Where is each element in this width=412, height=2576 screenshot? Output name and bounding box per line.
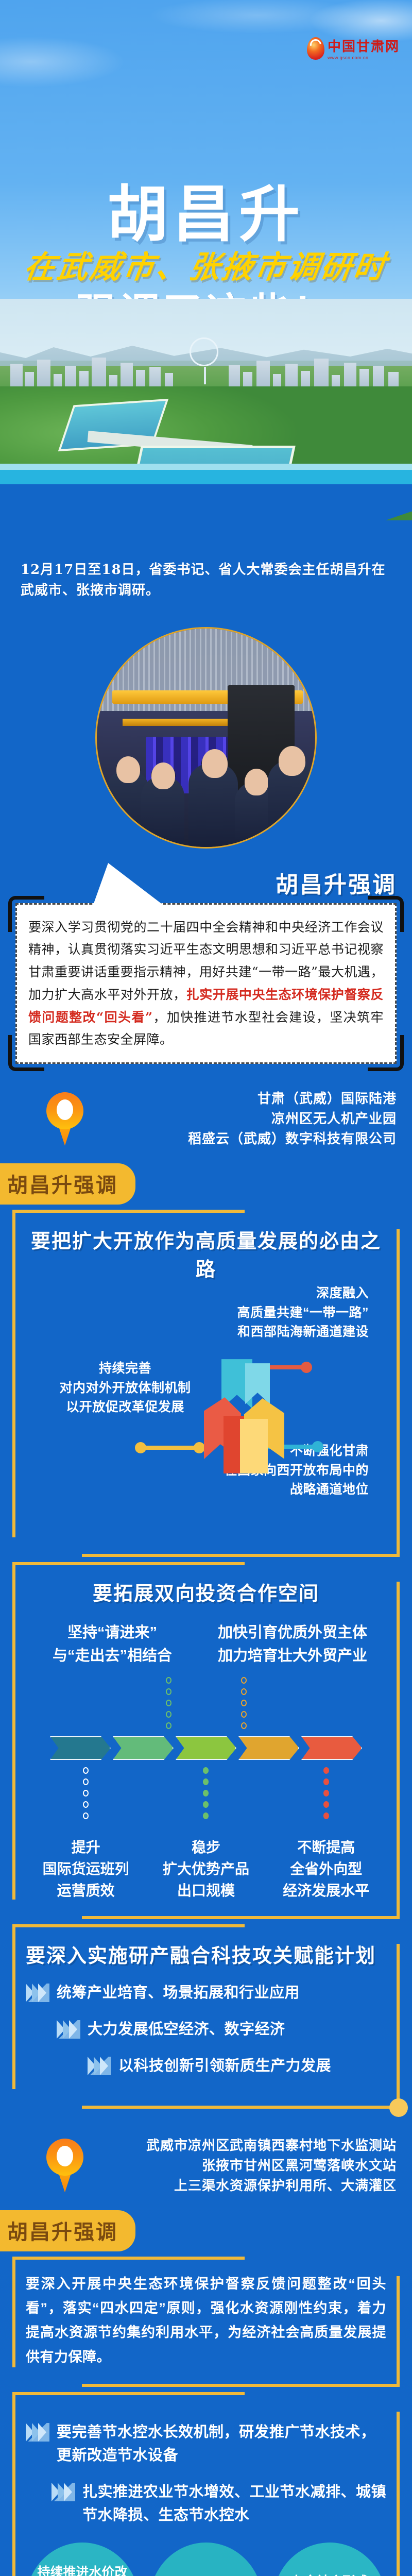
triple-item: 提升 国际货运班列 运营质效 (26, 1837, 145, 1902)
location-name: 武威市凉州区武南镇西寨村地下水监测站 (97, 2136, 397, 2156)
connector-gold (139, 1446, 200, 1450)
section-3-location: 武威市凉州区武南镇西寨村地下水监测站 张掖市甘州区黑河莺落峡水文站 上三渠水资源… (0, 2123, 412, 2201)
hero-banner: 中国甘肃网 www.gscn.com.cn 胡昌升 在武威市、张掖市调研时 强调… (0, 0, 412, 520)
bullet-row: 要完善节水控水长效机制，研发推广节水技术，更新改造节水设备 (26, 2421, 386, 2467)
hub-caption-top: 深度融入 高质量共建“一带一路” 和西部陆海新通道建设 (152, 1284, 369, 1342)
bullet-row: 扎实推进农业节水增效、工业节水减排、城镇节水降损、生态节水控水 (51, 2481, 386, 2527)
section-2-block-3: 要深入实施研产融合科技攻关赋能计划 统筹产业培育、场景拓展和行业应用 大力发展低… (12, 1924, 400, 2109)
dot-column-green2 (203, 1767, 209, 1819)
circle-item: 广泛普及 节水理念和知识 (149, 2543, 263, 2576)
chevron-icon (26, 2423, 49, 2442)
bullet-row: 统筹产业培育、场景拓展和行业应用 (26, 1981, 386, 2005)
bullet-text: 扎实推进农业节水增效、工业节水减排、城镇节水降损、生态节水控水 (82, 2481, 386, 2527)
block-heading: 要拓展双向投资合作空间 (26, 1578, 386, 1606)
bullet-row: 大力发展低空经济、数字经济 (57, 2018, 386, 2041)
arrow-step (238, 1736, 299, 1760)
dot-column-green (166, 1677, 171, 1729)
dot-column-red (323, 1767, 329, 1819)
block-heading: 要把扩大开放作为高质量发展的必由之路 (26, 1225, 386, 1282)
network-hub-icon (193, 1359, 290, 1472)
circle-group: 持续推进水价改革 提高中水回收 利用率 广泛普及 节水理念和知识 在全社会形成 … (26, 2543, 386, 2576)
lede-paragraph: 12月17日至18日，省委书记、省人大常委会主任胡昌升在武威市、张掖市调研。 (0, 556, 412, 617)
triple-item: 不断提高 全省外向型 经济发展水平 (267, 1837, 386, 1902)
section-3-block-2: 要完善节水控水长效机制，研发推广节水技术，更新改造节水设备 扎实推进农业节水增效… (12, 2392, 400, 2576)
leader-inspection-photo (95, 627, 317, 849)
bullet-text: 统筹产业培育、场景拓展和行业应用 (57, 1981, 300, 2005)
bullet-text: 要完善节水控水长效机制，研发推广节水技术，更新改造节水设备 (57, 2421, 386, 2467)
brand-name: 中国甘肃网 (328, 36, 400, 55)
flame-icon (307, 37, 324, 60)
circle-item: 持续推进水价改革 提高中水回收 利用率 (26, 2543, 139, 2576)
location-name: 稻盛云（武威）数字科技有限公司 (97, 1129, 397, 1149)
ferris-wheel-icon (190, 337, 218, 366)
brand-url: www.gscn.com.cn (328, 55, 369, 60)
location-name: 上三渠水资源保护利用所、大满灌区 (97, 2176, 397, 2196)
section-2-block-1: 要把扩大开放作为高质量发展的必由之路 深度融入 高质量共建“一带一路” 和西部陆… (12, 1210, 400, 1557)
section-3-label: 胡昌升强调 (0, 2210, 135, 2251)
arrow-chain (26, 1736, 386, 1760)
dot-column-orange (241, 1677, 247, 1729)
location-name: 甘肃（武威）国际陆港 (97, 1089, 397, 1109)
chevron-icon (57, 2020, 80, 2039)
bullet-text: 大力发展低空经济、数字经济 (88, 2018, 285, 2041)
chevron-icon (88, 2057, 111, 2075)
chevron-icon (26, 1984, 49, 2002)
bullet-text: 以科技创新引领新质生产力发展 (118, 2055, 331, 2078)
map-pin-icon (46, 2139, 83, 2192)
pair-item: 加快引育优质外贸主体 加力培育壮大外贸产业 (206, 1621, 379, 1668)
arrow-step (301, 1736, 362, 1760)
wave-divider (0, 464, 412, 556)
section-1-label: 胡昌升强调 (276, 872, 397, 897)
triple-item: 稳步 扩大优势产品 出口规模 (146, 1837, 265, 1902)
brand-logo: 中国甘肃网 www.gscn.com.cn (307, 36, 400, 60)
location-name: 凉州区无人机产业园 (97, 1109, 397, 1129)
arrow-step (176, 1736, 236, 1760)
circle-item: 在全社会形成 节约用水浓厚氛围 (273, 2543, 386, 2576)
arrow-step (113, 1736, 174, 1760)
section-1-quote-text: 要深入学习贯彻党的二十届四中全会精神和中央经济工作会议精神，认真贯彻落实习近平生… (15, 903, 397, 1064)
pair-item: 坚持“请进来” 与“走出去”相结合 (33, 1621, 192, 1668)
chevron-icon (51, 2483, 75, 2501)
bullet-row: 以科技创新引领新质生产力发展 (88, 2055, 386, 2078)
page-title: 胡昌升 (0, 165, 412, 253)
infographic-page: 中国甘肃网 www.gscn.com.cn 胡昌升 在武威市、张掖市调研时 强调… (0, 0, 412, 2576)
location-name: 张掖市甘州区黑河莺落峡水文站 (97, 2156, 397, 2176)
block-heading: 要深入实施研产融合科技攻关赋能计划 (26, 1940, 386, 1968)
section-2-block-2: 要拓展双向投资合作空间 坚持“请进来” 与“走出去”相结合 加快引育优质外贸主体… (12, 1562, 400, 1919)
dot-column-white (83, 1767, 89, 1819)
block-body: 要深入开展中央生态环境保护督察反馈问题整改“回头看”，落实“四水四定”原则，强化… (26, 2272, 386, 2369)
section-3-block-1: 要深入开展中央生态环境保护督察反馈问题整改“回头看”，落实“四水四定”原则，强化… (12, 2257, 400, 2387)
hero-subtitle: 在武威市、张掖市调研时 (0, 242, 412, 287)
arrow-step (50, 1736, 111, 1760)
section-2-label: 胡昌升强调 (0, 1163, 135, 1205)
section-1-quote-box: 要深入学习贯彻党的二十届四中全会精神和中央经济工作会议精神，认真贯彻落实习近平生… (15, 903, 397, 1064)
map-pin-icon (46, 1092, 83, 1146)
section-2-location: 甘肃（武威）国际陆港 凉州区无人机产业园 稻盛云（武威）数字科技有限公司 (0, 1076, 412, 1154)
hub-caption-left: 持续完善 对内对外开放体制机制 以开放促改革促发展 (40, 1359, 210, 1417)
